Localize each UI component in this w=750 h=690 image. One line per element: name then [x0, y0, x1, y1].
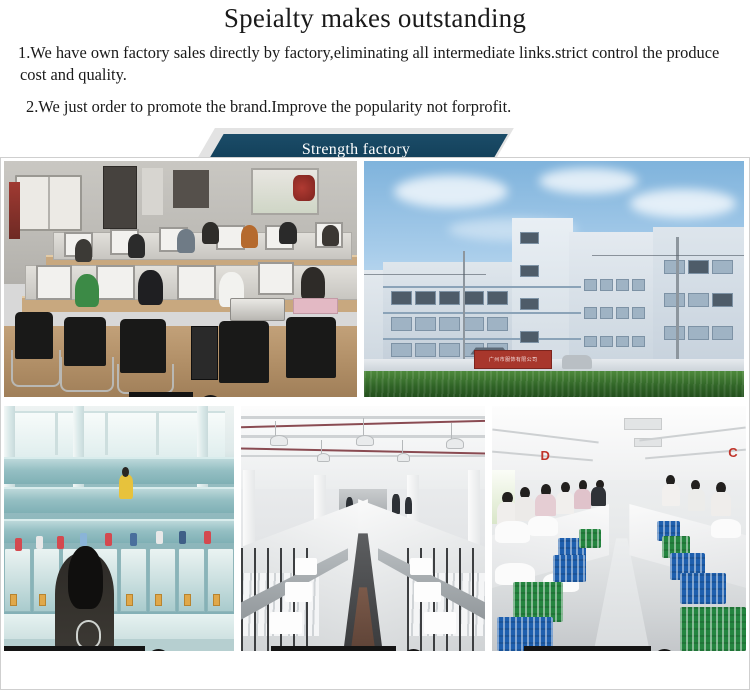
- benefit-bullet-1: 1.We have own factory sales directly by …: [6, 42, 744, 86]
- clothing-factory-photo: D C: [492, 406, 746, 651]
- caption-label-printing-factory: printing factory: [271, 646, 396, 651]
- gallery-row-bottom: imbroidery factory: [4, 406, 746, 651]
- imbroidery-factory-photo: [4, 406, 234, 651]
- gallery-item-printing-factory[interactable]: printing factory: [241, 406, 486, 651]
- chevron-up-icon[interactable]: [147, 649, 170, 651]
- factory-photo: 广州市服饰有限公司: [364, 161, 744, 397]
- office-photo: [4, 161, 357, 397]
- benefit-bullet-2: 2.We just order to promote the brand.Imp…: [6, 96, 744, 118]
- chevron-up-icon[interactable]: [653, 649, 676, 651]
- gallery-item-office[interactable]: office: [4, 161, 357, 397]
- zone-label-c: C: [728, 445, 737, 460]
- caption-label-clothing-factory: clothing factory: [524, 646, 651, 651]
- factory-sign-text: 广州市服饰有限公司: [489, 356, 538, 363]
- gallery-item-imbroidery-factory[interactable]: imbroidery factory: [4, 406, 234, 651]
- zone-label-d: D: [541, 448, 550, 463]
- factory-sign: 广州市服饰有限公司: [474, 350, 552, 369]
- chevron-up-icon[interactable]: [199, 395, 222, 397]
- chevron-up-icon[interactable]: [402, 649, 425, 651]
- header: Speialty makes outstanding 1.We have own…: [0, 2, 750, 118]
- caption-badge-clothing-factory[interactable]: clothing factory: [524, 646, 676, 651]
- printing-factory-photo: [241, 406, 486, 651]
- caption-label-office: office: [129, 392, 193, 397]
- caption-label-imbroidery-factory: imbroidery factory: [4, 646, 145, 651]
- caption-badge-imbroidery-factory[interactable]: imbroidery factory: [4, 646, 170, 651]
- caption-badge-printing-factory[interactable]: printing factory: [271, 646, 425, 651]
- page-title: Speialty makes outstanding: [6, 2, 744, 36]
- gallery-row-top: office: [4, 161, 746, 397]
- gallery-item-factory[interactable]: 广州市服饰有限公司 factory: [364, 161, 744, 397]
- factory-photo-gallery: office: [0, 157, 750, 690]
- caption-badge-office[interactable]: office: [129, 392, 222, 397]
- gallery-item-clothing-factory[interactable]: D C: [492, 406, 746, 651]
